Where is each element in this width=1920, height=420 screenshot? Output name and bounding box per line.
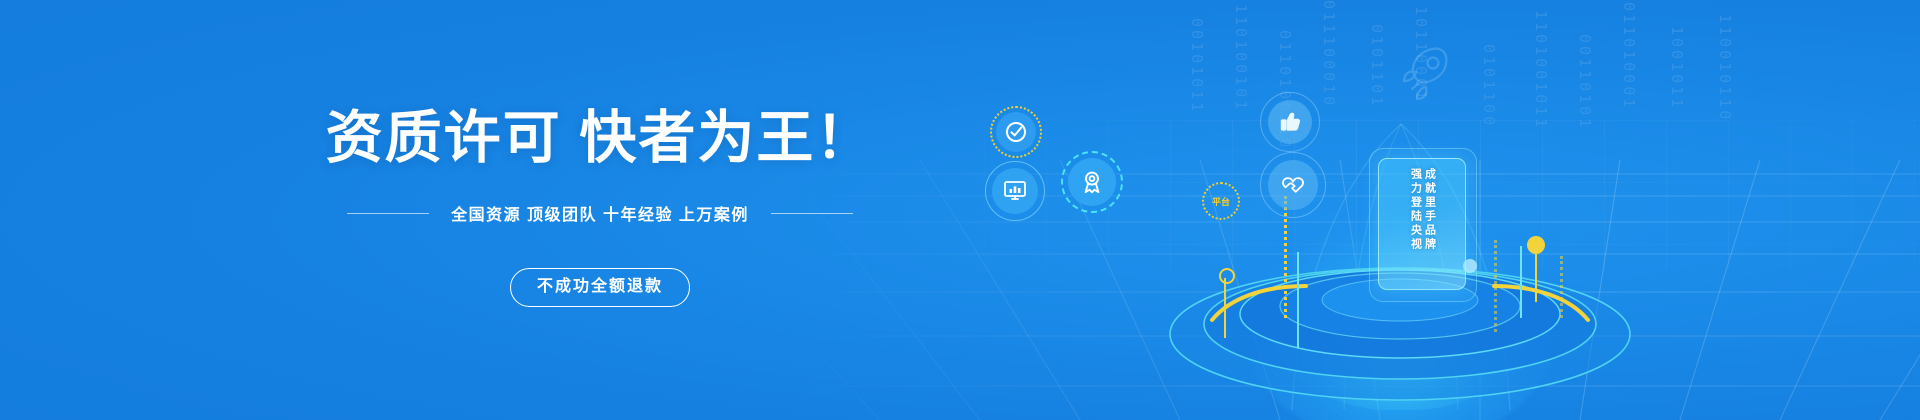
- binary-column: 011010001: [1620, 2, 1638, 110]
- binary-column: 110100101: [1232, 4, 1250, 112]
- binary-column: 0101100: [1480, 44, 1498, 128]
- binary-column: 00110101: [1576, 34, 1594, 130]
- platform-badge-label: 平台: [1212, 195, 1230, 208]
- podium-line-cyan-left: [1297, 252, 1299, 348]
- podium-line-cyan-right: [1520, 246, 1522, 318]
- handshake-heart-icon: [1278, 170, 1308, 200]
- binary-column: 011100010: [1320, 0, 1338, 108]
- binary-column: 1001011: [1668, 26, 1686, 110]
- binary-column: 1101001011: [1532, 10, 1550, 130]
- cta-wrapper: 不成功全额退款: [0, 268, 1200, 307]
- check-circle-icon: [1004, 120, 1028, 144]
- badge-handshake-heart[interactable]: [1268, 160, 1318, 210]
- thumbs-up-icon: [1278, 110, 1302, 134]
- podium-dotline-b: [1494, 240, 1500, 332]
- podium-dotline-c: [1560, 256, 1566, 318]
- platform-badge: 平台: [1202, 182, 1240, 220]
- rocket-icon: [1396, 44, 1454, 102]
- badge-thumbs-up[interactable]: [1268, 100, 1312, 144]
- podium-pin-yellow: [1219, 268, 1235, 284]
- monitor-chart-icon: [1002, 178, 1028, 204]
- binary-column: 0101101: [1368, 24, 1386, 108]
- medal-award-icon: [1079, 169, 1105, 195]
- device-screen: 成就里手品牌 强力登陆央视: [1378, 158, 1466, 290]
- refund-guarantee-button[interactable]: 不成功全额退款: [510, 268, 690, 307]
- subtitle-row: 全国资源 顶级团队 十年经验 上万案例: [0, 201, 1200, 225]
- divider-left: [347, 213, 429, 214]
- podium-knob-stem: [1535, 250, 1537, 302]
- divider-right: [771, 213, 853, 214]
- binary-column: 110010110: [1716, 14, 1734, 122]
- banner-content: 资质许可 快者为王！ 全国资源 顶级团队 十年经验 上万案例 不成功全额退款: [0, 0, 1200, 420]
- screen-text-right: 成就里手品牌: [1424, 168, 1435, 252]
- promo-banner: 00101011 110100101 0110100110 011100010 …: [0, 0, 1920, 420]
- podium-line-yellow: [1224, 278, 1226, 338]
- subtitle: 全国资源 顶级团队 十年经验 上万案例: [451, 201, 749, 225]
- screen-text-left: 强力登陆央视: [1410, 168, 1421, 252]
- binary-column: 10110001: [1412, 6, 1430, 102]
